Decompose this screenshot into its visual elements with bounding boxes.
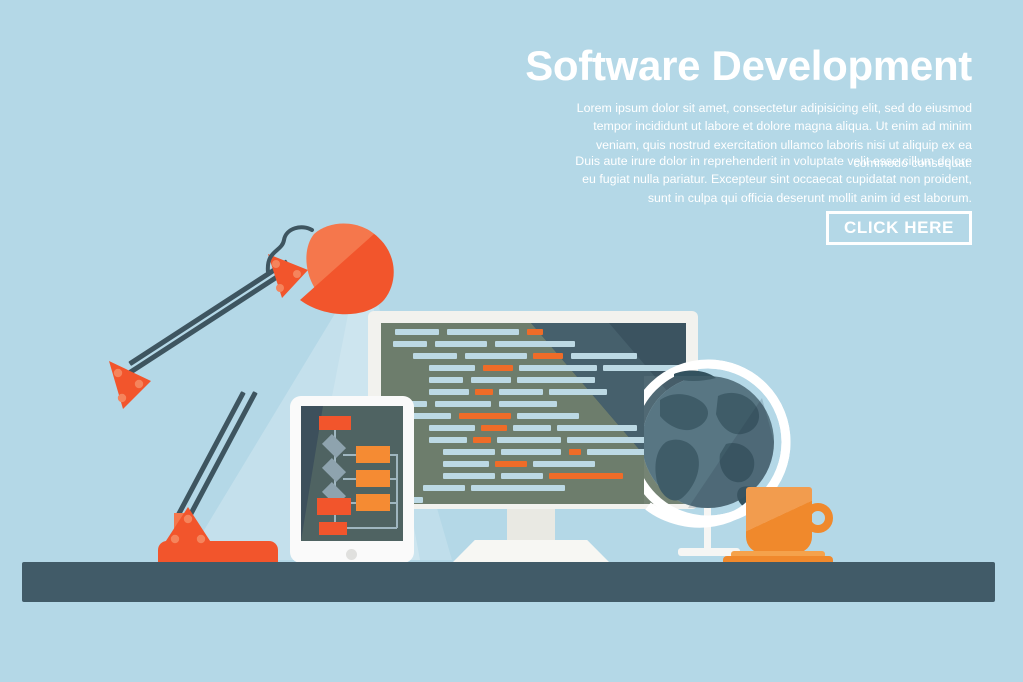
code-line-segment [475,389,493,395]
cup-highlight [746,487,812,553]
flowchart-process-node [317,498,351,515]
click-here-button[interactable]: CLICK HERE [826,211,972,245]
lamp-joint-middle [101,355,157,411]
illustration-canvas: Software Development Lorem ipsum dolor s… [0,0,1023,682]
tablet-home-button-icon[interactable] [346,549,357,560]
code-line-segment [495,341,575,347]
code-line-segment [429,425,475,431]
code-line-segment [429,389,469,395]
code-line-segment [495,461,527,467]
code-line-segment [571,353,637,359]
code-line-segment [443,461,489,467]
flowchart-process-node [319,522,347,535]
flowchart-connector [343,454,357,456]
flowchart-connector [396,454,398,528]
code-line-segment [517,377,595,383]
flowchart-process-node [356,470,390,487]
desk-surface [22,562,995,602]
flowchart-connector [343,478,357,480]
code-line-segment [499,389,543,395]
code-line-segment [435,341,487,347]
code-line-segment [459,413,511,419]
code-line-segment [471,485,565,491]
code-line-segment [549,389,607,395]
code-line-segment [443,449,495,455]
lamp-joint-bottom [160,505,216,551]
flowchart-process-node [356,446,390,463]
monitor-neck [507,509,555,544]
code-line-segment [481,425,507,431]
code-line-segment [413,353,457,359]
code-line-segment [429,377,463,383]
code-line-segment [533,461,595,467]
code-line-segment [499,401,557,407]
hero-paragraph-2: Duis aute irure dolor in reprehenderit i… [572,152,972,207]
monitor-screen [381,323,686,504]
code-line-segment [447,329,519,335]
code-line-segment [567,437,653,443]
code-line-segment [429,365,475,371]
code-line-segment [423,485,465,491]
tablet-screen [301,406,403,541]
flowchart-process-node [319,416,351,430]
code-line-segment [501,473,543,479]
code-line-segment [557,425,637,431]
flowchart-connector [347,527,397,529]
code-line-segment [471,377,511,383]
code-line-segment [465,353,527,359]
code-line-segment [569,449,581,455]
flowchart-process-node [356,494,390,511]
code-line-segment [501,449,561,455]
code-line-segment [443,473,495,479]
code-line-segment [483,365,513,371]
code-line-segment [513,425,551,431]
code-line-segment [435,401,491,407]
code-line-segment [429,437,467,443]
code-line-segment [395,329,439,335]
code-line-segment [517,413,579,419]
code-line-segment [527,329,543,335]
lamp-shade [270,222,410,322]
code-line-segment [393,341,427,347]
code-line-segment [519,365,597,371]
page-title: Software Development [420,44,972,88]
code-line-segment [549,473,623,479]
code-line-segment [497,437,561,443]
code-line-segment [533,353,563,359]
code-line-segment [473,437,491,443]
monitor-base [453,540,609,562]
